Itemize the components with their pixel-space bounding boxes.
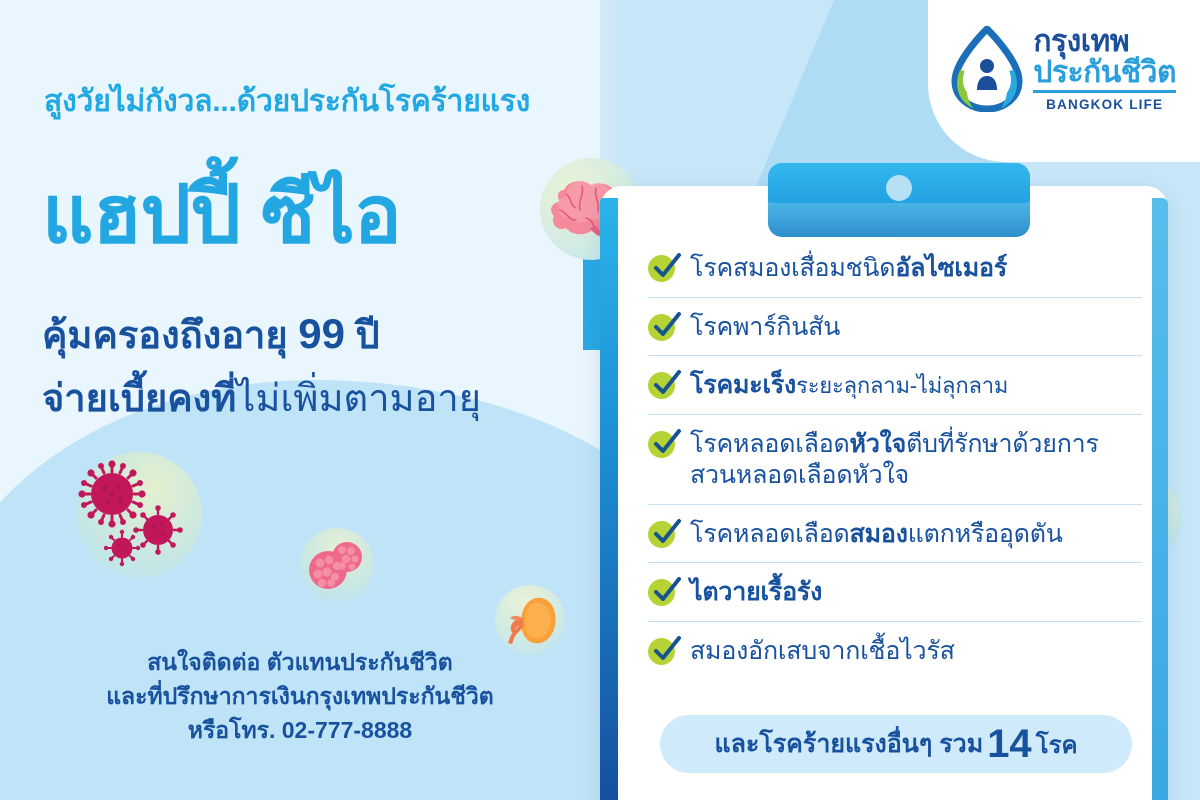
- list-item[interactable]: สมองอักเสบจากเชื้อไวรัส: [648, 635, 1142, 680]
- contact-line-2: และที่ปรึกษาการเงินกรุงเทพประกันชีวิต: [0, 679, 600, 713]
- premium-thin: ไม่เพิ่มตามอายุ: [236, 378, 481, 420]
- contact-line-3[interactable]: หรือโทร. 02-777-8888: [0, 713, 600, 747]
- list-item[interactable]: โรคพาร์กินสัน: [648, 311, 1142, 357]
- covered-illness-list: โรคสมองเสื่อมชนิดอัลไซเมอร์ โรคพาร์กินสั…: [648, 252, 1142, 692]
- logo-line-1: กรุงเทพ: [1033, 27, 1176, 57]
- list-item-label: สมองอักเสบจากเชื้อไวรัส: [690, 635, 955, 668]
- list-item[interactable]: โรคสมองเสื่อมชนิดอัลไซเมอร์: [648, 252, 1142, 298]
- coverage-unit: ปี: [345, 315, 380, 357]
- check-icon: [648, 314, 676, 342]
- premium-bold: จ่ายเบี้ยคงที่: [42, 378, 236, 420]
- cancer-cells-illustration: [300, 528, 374, 602]
- kidney-illustration: [495, 585, 565, 655]
- badge-suffix: โรค: [1036, 725, 1078, 764]
- check-icon: [648, 579, 676, 607]
- list-item-label: โรคหลอดเลือดสมองแตกหรืออุดตัน: [690, 518, 1063, 551]
- badge-number: 14: [983, 722, 1036, 767]
- clipboard-left-spine: [600, 198, 618, 800]
- coverage-label: คุ้มครองถึงอายุ: [42, 315, 298, 357]
- clipboard-right-edge: [1152, 198, 1168, 800]
- check-icon: [648, 521, 676, 549]
- coverage-age: 99: [298, 310, 345, 357]
- total-diseases-badge: และโรคร้ายแรงอื่นๆ รวม 14โรค: [660, 715, 1132, 773]
- list-item[interactable]: ไตวายเรื้อรัง: [648, 576, 1142, 622]
- list-item-label: ไตวายเรื้อรัง: [690, 576, 822, 609]
- check-icon: [648, 255, 676, 283]
- logo-line-2: ประกันชีวิต: [1033, 58, 1176, 93]
- brand-logo-text: กรุงเทพ ประกันชีวิต BANGKOK LIFE: [1033, 27, 1176, 112]
- badge-prefix: และโรคร้ายแรงอื่นๆ รวม: [714, 724, 983, 764]
- clipboard-clip-hole-icon: [886, 175, 912, 201]
- hero-subline-2: จ่ายเบี้ยคงที่ไม่เพิ่มตามอายุ: [42, 378, 481, 422]
- list-item-label: โรคพาร์กินสัน: [690, 311, 840, 344]
- logo-line-3: BANGKOK LIFE: [1033, 98, 1176, 112]
- list-item-label: โรคสมองเสื่อมชนิดอัลไซเมอร์: [690, 252, 1007, 285]
- list-item[interactable]: โรคหลอดเลือดสมองแตกหรืออุดตัน: [648, 518, 1142, 564]
- virus-illustration: [76, 452, 202, 578]
- check-icon: [648, 638, 676, 666]
- check-icon: [648, 372, 676, 400]
- hero-subline-1: คุ้มครองถึงอายุ 99 ปี: [42, 310, 380, 359]
- list-item-label: โรคมะเร็งระยะลุกลาม-ไม่ลุกลาม: [690, 369, 1008, 402]
- poster-root: กรุงเทพ ประกันชีวิต BANGKOK LIFE สูงวัยไ…: [0, 0, 1200, 800]
- hero-column: สูงวัยไม่กังวล...ด้วยประกันโรคร้ายแรง แฮ…: [0, 0, 620, 800]
- brand-logo: กรุงเทพ ประกันชีวิต BANGKOK LIFE: [951, 26, 1176, 112]
- list-item[interactable]: โรคหลอดเลือดหัวใจตีบที่รักษาด้วยการสวนหล…: [648, 428, 1142, 505]
- contact-block: สนใจติดต่อ ตัวแทนประกันชีวิต และที่ปรึกษ…: [0, 645, 600, 747]
- check-icon: [648, 431, 676, 459]
- droplet-person-logo-icon: [951, 26, 1023, 112]
- hero-eyebrow: สูงวัยไม่กังวล...ด้วยประกันโรคร้ายแรง: [44, 78, 530, 125]
- list-item[interactable]: โรคมะเร็งระยะลุกลาม-ไม่ลุกลาม: [648, 369, 1142, 415]
- list-item-label: โรคหลอดเลือดหัวใจตีบที่รักษาด้วยการสวนหล…: [690, 428, 1142, 492]
- hero-headline: แฮปปี้ ซีไอ: [42, 175, 401, 255]
